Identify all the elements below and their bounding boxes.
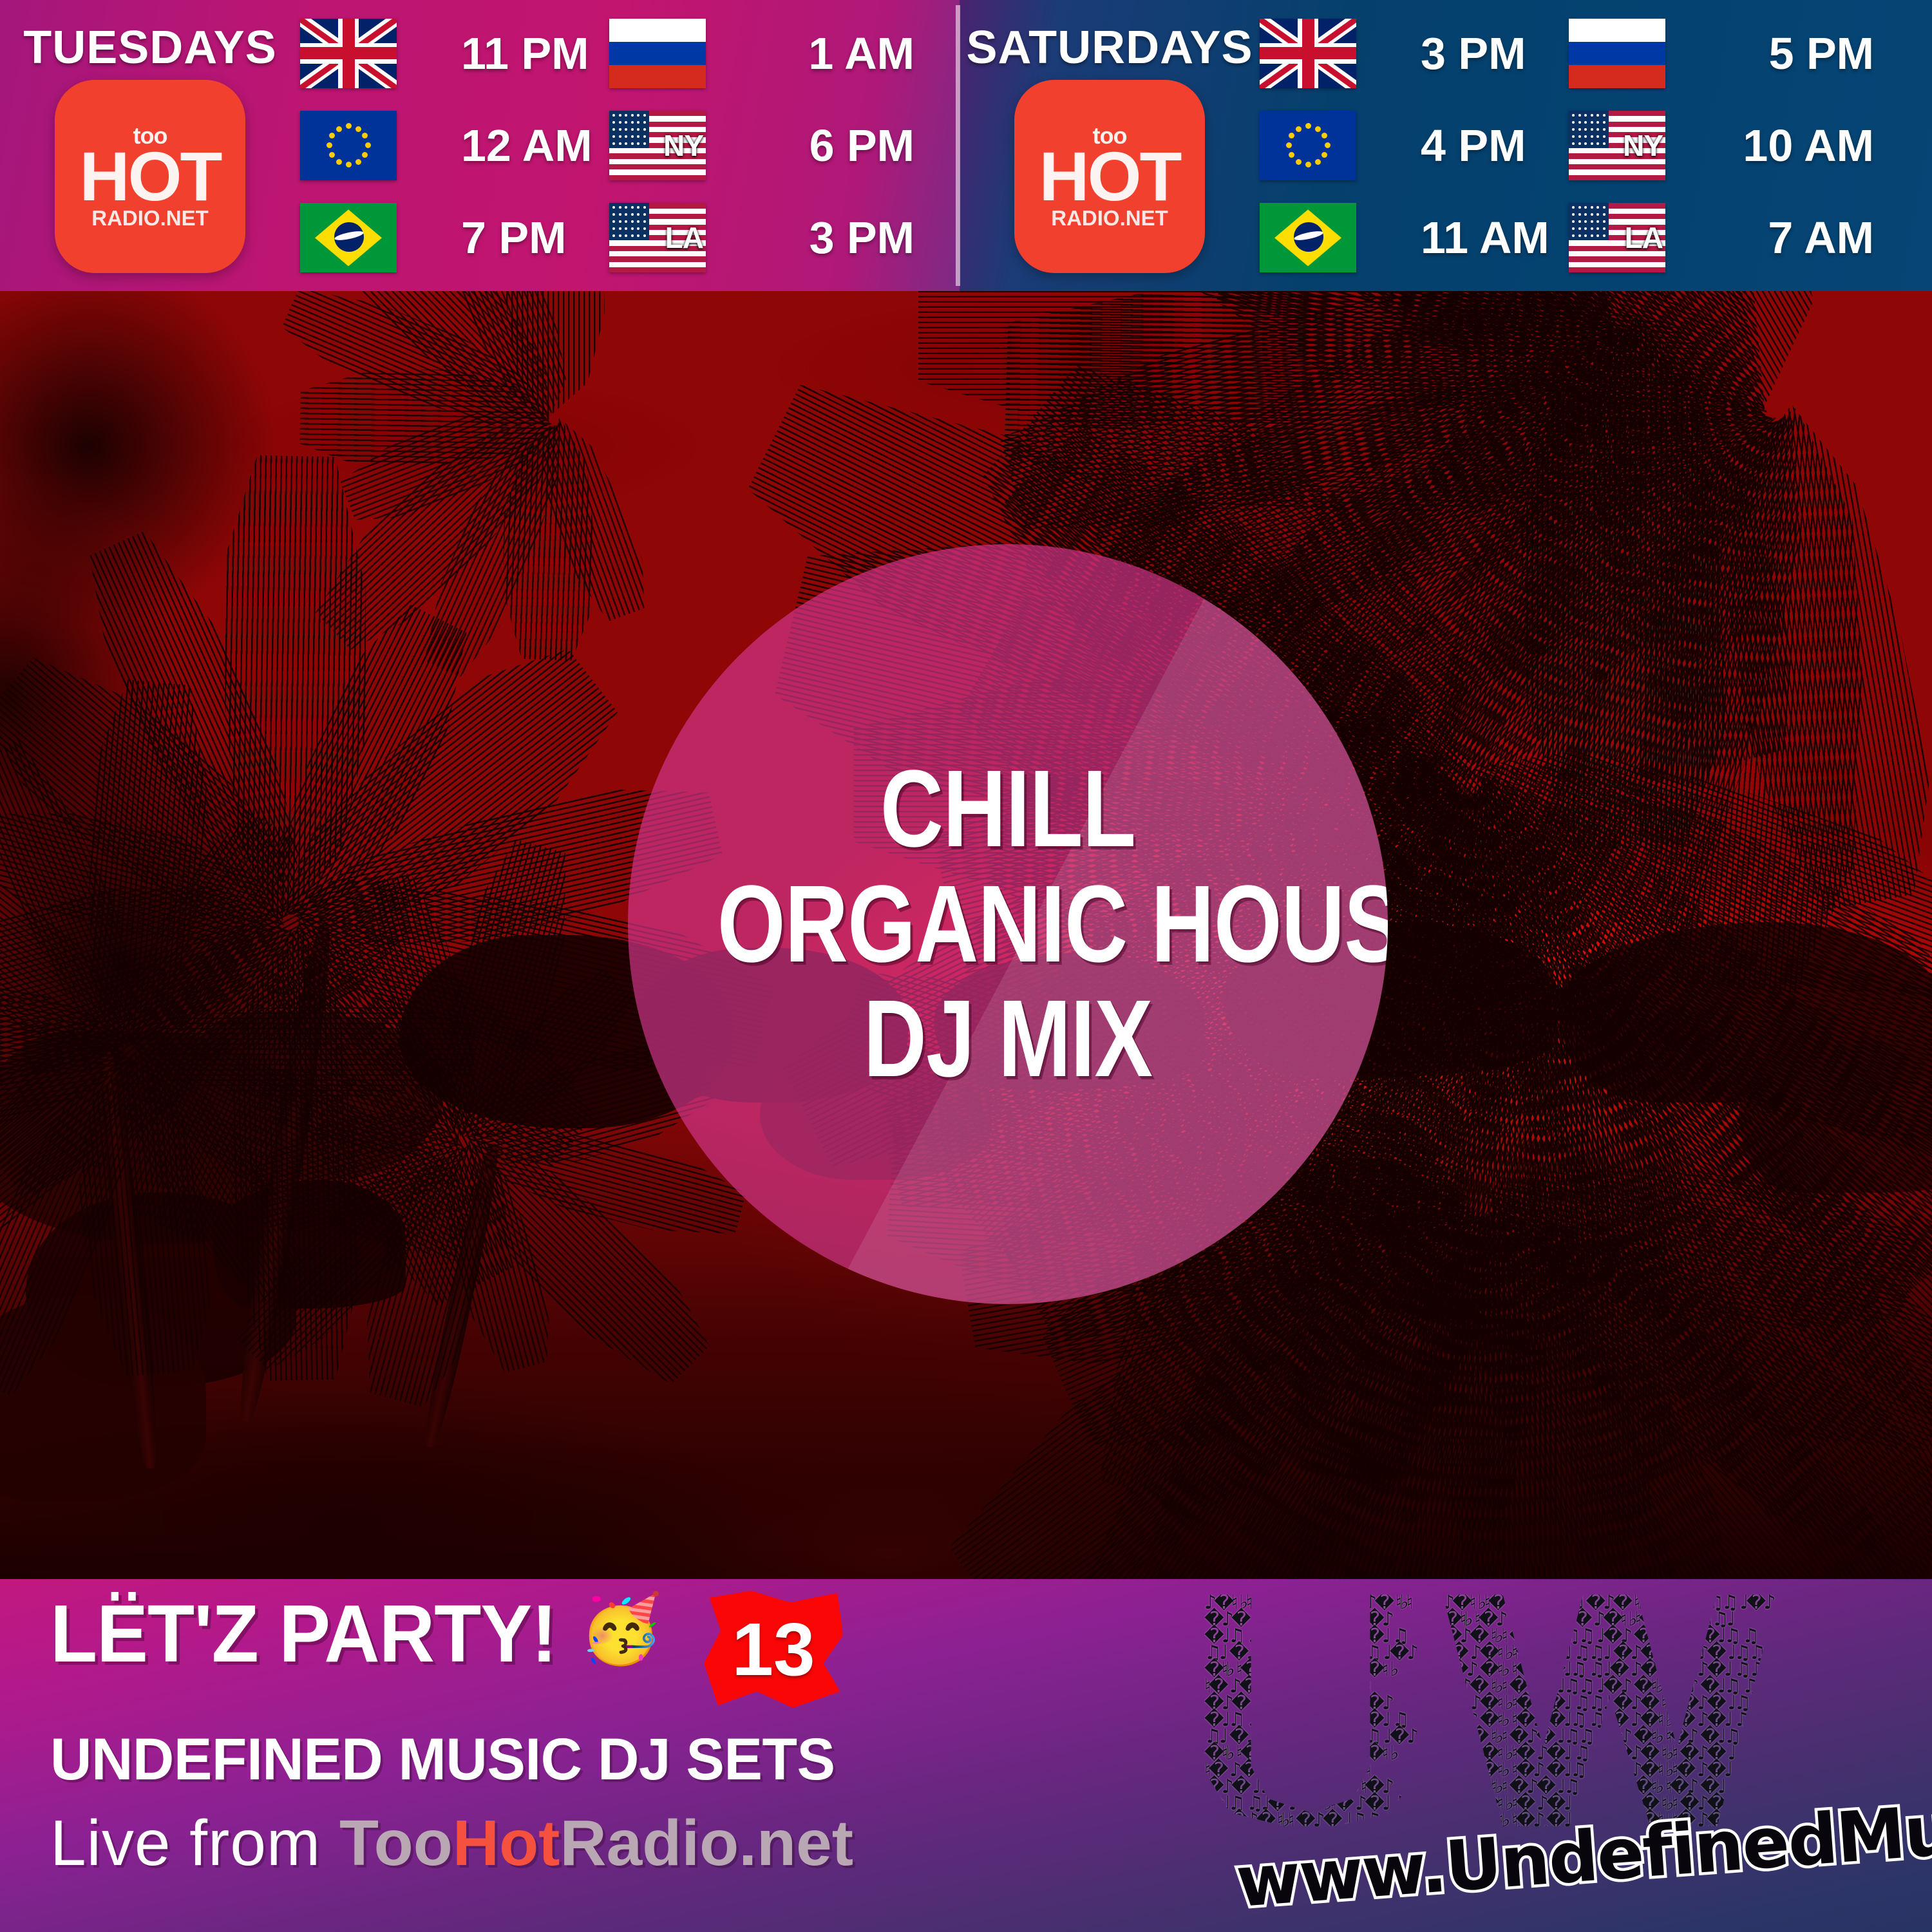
brand-website-url[interactable]: www.UndefinedMusic.fun: [1233, 1772, 1932, 1923]
usa-flag-icon: LA: [1569, 203, 1665, 272]
timezone-grid-left: 11 PM 1 AM 12 AM NY 6 PM: [289, 7, 960, 284]
tz-time-ny: 6 PM: [770, 120, 931, 171]
uk-flag-icon: [300, 19, 397, 88]
title-circle: CHILL ORGANIC HOUSE DJ MIX: [628, 544, 1388, 1304]
usa-region-tag-ny: NY: [663, 131, 703, 160]
brazil-flag-icon: [300, 203, 397, 272]
station-radio: Radio: [560, 1807, 739, 1879]
title-line-3: DJ MIX: [717, 985, 1298, 1093]
tz-time-eu: 12 AM: [461, 120, 609, 171]
tz-flag-uk: [1260, 19, 1421, 88]
poster-root: TUESDAYS too HOT RADIO.NET 11 PM: [0, 0, 1932, 1932]
tz-flag-eu: [1260, 111, 1421, 180]
tz-flag-uk: [300, 19, 461, 88]
eu-flag-icon: [1260, 111, 1356, 180]
tz-flag-usa-la: LA: [609, 203, 770, 272]
title-line-1: CHILL: [717, 755, 1298, 863]
live-from-label: Live from: [50, 1807, 339, 1879]
tz-flag-russia: [1569, 19, 1730, 88]
tz-time-uk: 3 PM: [1421, 28, 1569, 79]
tz-time-russia: 5 PM: [1730, 28, 1891, 79]
schedule-panel-tuesdays: TUESDAYS too HOT RADIO.NET 11 PM: [0, 0, 960, 291]
day-label-saturdays: SATURDAYS: [966, 24, 1253, 71]
tz-flag-brazil: [300, 203, 461, 272]
uk-flag-icon: [1260, 19, 1356, 88]
tz-time-russia: 1 AM: [770, 28, 931, 79]
logo-hot-text: HOT: [1039, 144, 1180, 209]
logo-letter-u: ♪�♮ ♭♮� ♪�♩ ♫♫♩ �♪� ♮♭♮ �♪� ♩♫♫ ♩�♪ �♮♭ …: [1204, 1595, 1417, 1826]
episode-number-badge: 13: [704, 1591, 843, 1708]
tz-time-brazil: 7 PM: [461, 212, 609, 263]
header-divider: [956, 5, 960, 286]
brazil-flag-icon: [1260, 203, 1356, 272]
eu-flag-icon: [300, 111, 397, 180]
station-hot: Hot: [453, 1807, 560, 1879]
usa-region-tag-la: LA: [665, 223, 703, 252]
brand-column-right: SATURDAYS too HOT RADIO.NET: [971, 18, 1248, 273]
footer-headline-row: LËT'Z PARTY! 🥳 13: [50, 1593, 1108, 1713]
logo-radionet-text: RADIO.NET: [91, 207, 209, 229]
footer-banner: LËT'Z PARTY! 🥳 13 UNDEFINED MUSIC DJ SET…: [0, 1579, 1932, 1932]
tz-flag-eu: [300, 111, 461, 180]
tz-time-la: 7 AM: [1730, 212, 1891, 263]
toohotradio-logo-right[interactable]: too HOT RADIO.NET: [1014, 80, 1205, 273]
usa-region-tag-ny: NY: [1623, 131, 1663, 160]
day-label-tuesdays: TUESDAYS: [23, 24, 276, 71]
usa-region-tag-la: LA: [1625, 223, 1663, 252]
toohotradio-logo-left[interactable]: too HOT RADIO.NET: [55, 80, 245, 273]
undefined-music-logo[interactable]: ♪�♮ ♭♮� ♪�♩ ♫♫♩ �♪� ♮♭♮ �♪� ♩♫♫ ♩�♪ �♮♭ …: [1185, 1575, 1855, 1878]
tz-time-ny: 10 AM: [1730, 120, 1891, 171]
schedule-panel-saturdays: SATURDAYS too HOT RADIO.NET 3 PM: [960, 0, 1932, 291]
artwork-background: CHILL ORGANIC HOUSE DJ MIX: [0, 291, 1932, 1579]
usa-flag-icon: NY: [609, 111, 706, 180]
logo-letter-m: ♪�♮ ♭♮� ♪�♩ ♫♫♩ �♪� ♮♭♮ �♪� ♩♫♫ ♩�♪ �♮♭ …: [1443, 1595, 1777, 1826]
party-face-emoji-icon: 🥳: [580, 1596, 663, 1663]
tz-time-la: 3 PM: [770, 212, 931, 263]
tz-flag-usa-ny: NY: [609, 111, 770, 180]
timezone-grid-right: 3 PM 5 PM 4 PM NY 10 AM: [1248, 7, 1932, 284]
russia-flag-icon: [1569, 19, 1665, 88]
tz-time-uk: 11 PM: [461, 28, 609, 79]
footer-text-block: LËT'Z PARTY! 🥳 13 UNDEFINED MUSIC DJ SET…: [0, 1579, 1108, 1932]
station-too: Too: [339, 1807, 453, 1879]
tz-time-eu: 4 PM: [1421, 120, 1569, 171]
tz-flag-usa-la: LA: [1569, 203, 1730, 272]
tz-flag-usa-ny: NY: [1569, 111, 1730, 180]
usa-flag-icon: NY: [1569, 111, 1665, 180]
footer-subtitle: UNDEFINED MUSIC DJ SETS: [50, 1730, 1076, 1789]
brand-column-left: TUESDAYS too HOT RADIO.NET: [12, 18, 289, 273]
tz-flag-brazil: [1260, 203, 1421, 272]
tz-flag-russia: [609, 19, 770, 88]
title-line-2: ORGANIC HOUSE: [717, 871, 1298, 978]
title-block: CHILL ORGANIC HOUSE DJ MIX: [628, 755, 1388, 1093]
station-net: .net: [739, 1807, 853, 1879]
footer-brand-block: ♪�♮ ♭♮� ♪�♩ ♫♫♩ �♪� ♮♭♮ �♪� ♩♫♫ ♩�♪ �♮♭ …: [1108, 1579, 1932, 1932]
footer-live-from-line: Live from TooHotRadio.net: [50, 1811, 1108, 1875]
schedule-header: TUESDAYS too HOT RADIO.NET 11 PM: [0, 0, 1932, 291]
logo-hot-text: HOT: [80, 144, 221, 209]
logo-radionet-text: RADIO.NET: [1051, 207, 1168, 229]
letz-party-headline: LËT'Z PARTY!: [50, 1593, 556, 1674]
tz-time-brazil: 11 AM: [1421, 212, 1569, 263]
episode-number: 13: [732, 1612, 815, 1687]
usa-flag-icon: LA: [609, 203, 706, 272]
russia-flag-icon: [609, 19, 706, 88]
